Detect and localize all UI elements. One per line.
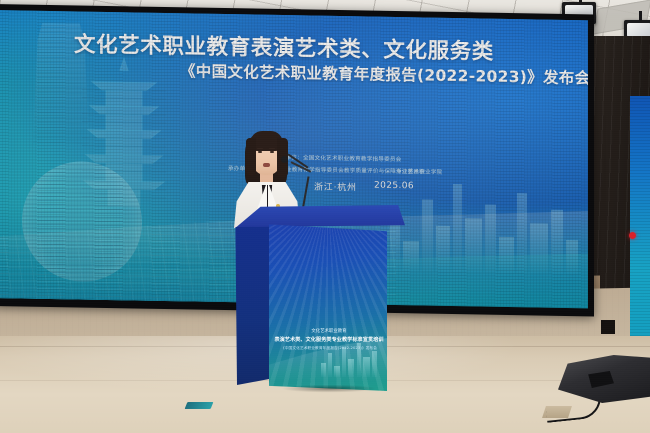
eye [258, 151, 262, 153]
screen-headline: 文化艺术职业教育表演艺术类、文化服务类 [74, 27, 494, 65]
side-panel-texture [630, 96, 650, 342]
podium-text-line3: 《中国文化艺术职业教育年度报告(2022-2023)》发布会 [273, 346, 385, 351]
podium-text-line1: 文化艺术职业教育 [277, 328, 381, 334]
hair-left-strand [246, 138, 256, 176]
mouth [263, 163, 270, 167]
indicator-light [629, 232, 636, 239]
screen-subheadline: 《中国文化艺术职业教育年度报告(2022-2023)》发布会 [180, 59, 588, 88]
podium-text-line2: 表演艺术类、文化服务类专业教学标准宣贯培训 [271, 336, 387, 343]
stage-monitor-speaker [558, 355, 650, 411]
podium-side-face [233, 217, 273, 385]
conference-stage-photo: 文化艺术职业教育表演艺术类、文化服务类 《中国文化艺术职业教育年度报告(2022… [0, 0, 650, 433]
screen-support-unit: 浙江艺术职业学院 [396, 167, 442, 176]
podium-shadow [263, 385, 395, 394]
eye [270, 151, 274, 153]
light-lens [627, 23, 650, 37]
microphone-head [281, 156, 288, 163]
floor-tape-marker [185, 402, 214, 409]
screen-date: 2025.06 [374, 181, 414, 192]
wall-panel-plate [601, 320, 615, 334]
podium-front-panel [269, 221, 387, 391]
light-mount-arm [579, 0, 582, 3]
side-led-panel [630, 96, 650, 342]
podium-top-surface [233, 205, 405, 227]
light-mount-arm [639, 11, 642, 21]
screen-place: 浙江·杭州 [314, 180, 357, 194]
podium: 文化艺术职业教育 表演艺术类、文化服务类专业教学标准宣贯培训 《中国文化艺术职业… [233, 205, 405, 391]
